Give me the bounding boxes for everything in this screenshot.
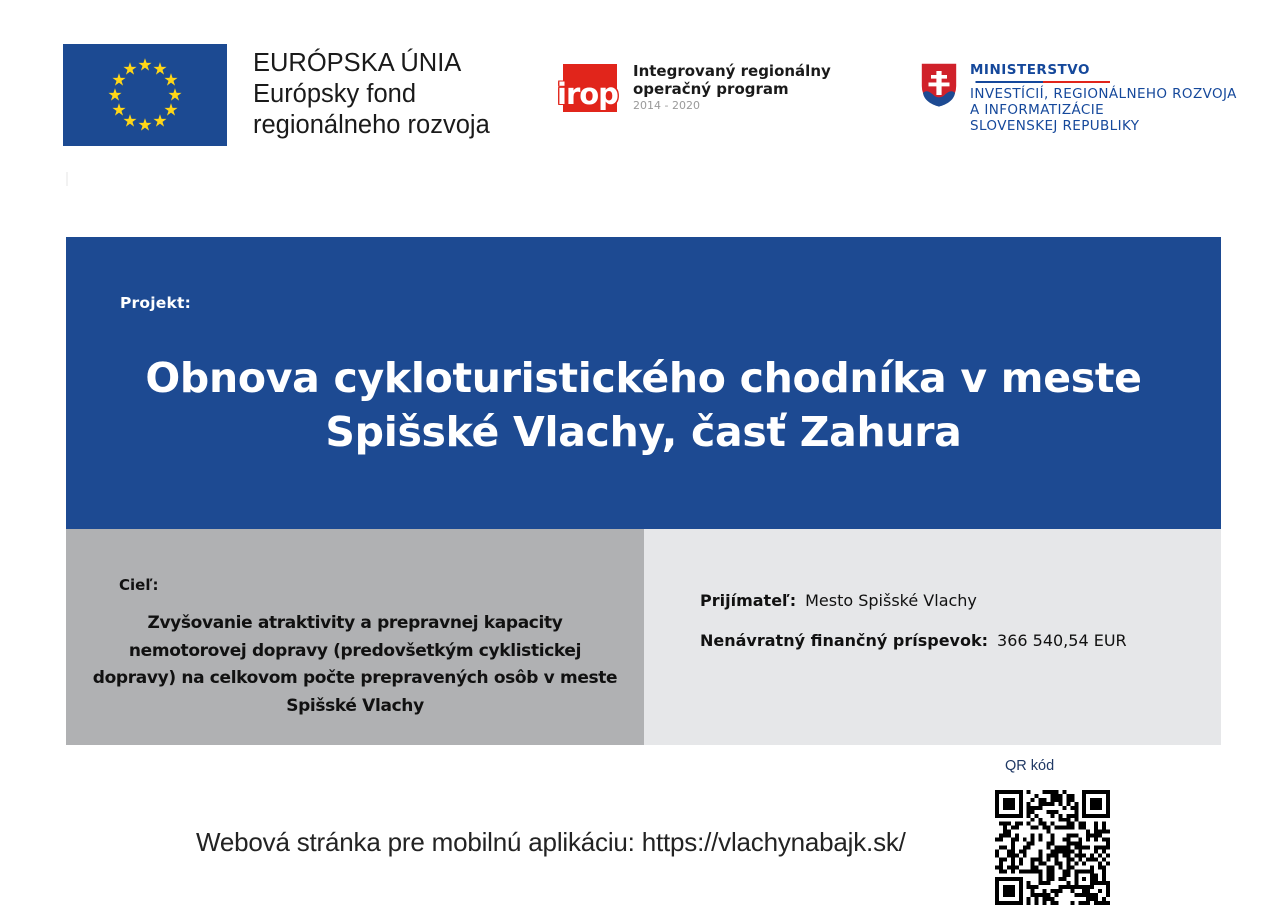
project-label: Projekt: — [120, 294, 191, 312]
ministry-line-3: A INFORMATIZÁCIE — [970, 102, 1237, 118]
page-artifact-mark — [66, 172, 68, 186]
grant-key: Nenávratný finančný príspevok: — [700, 631, 988, 650]
logo-header-bar: ★★★★★★★★★★★★ EURÓPSKA ÚNIA Európsky fond… — [0, 0, 1287, 200]
goal-label: Cieľ: — [119, 576, 159, 594]
grant-value: 366 540,54 EUR — [997, 631, 1127, 650]
website-line: Webová stránka pre mobilnú aplikáciu: ht… — [196, 825, 906, 859]
ministry-divider-rule — [970, 81, 1110, 83]
slovak-coat-of-arms-icon — [920, 62, 958, 108]
irop-wordmark: irop — [557, 80, 625, 109]
recipient-key: Prijímateľ: — [700, 591, 796, 610]
ministry-logo: MINISTERSTVO INVESTÍCIÍ, REGIONÁLNEHO RO… — [920, 62, 1237, 134]
goal-panel: Cieľ: Zvyšovanie atraktivity a prepravne… — [66, 529, 644, 745]
qr-code-image[interactable] — [995, 790, 1110, 905]
ministry-logo-text: MINISTERSTVO INVESTÍCIÍ, REGIONÁLNEHO RO… — [970, 62, 1237, 134]
irop-mark-icon: irop — [559, 62, 621, 114]
eu-logo-text: EURÓPSKA ÚNIA Európsky fond regionálneho… — [253, 44, 490, 141]
eu-text-line-2: Európsky fond — [253, 79, 490, 110]
recipient-value: Mesto Spišské Vlachy — [805, 591, 977, 610]
irop-logo-text: Integrovaný regionálny operačný program … — [633, 62, 831, 113]
eu-text-line-1: EURÓPSKA ÚNIA — [253, 48, 490, 79]
irop-text-line-2: operačný program — [633, 80, 831, 98]
ministry-line-1: MINISTERSTVO — [970, 63, 1237, 78]
irop-text-line-1: Integrovaný regionálny — [633, 62, 831, 80]
eu-text-line-3: regionálneho rozvoja — [253, 110, 490, 141]
project-title: Obnova cykloturistického chodníka v mest… — [118, 351, 1169, 459]
ministry-line-4: SLOVENSKEJ REPUBLIKY — [970, 118, 1237, 134]
eu-flag-icon: ★★★★★★★★★★★★ — [63, 44, 227, 146]
info-row-recipient: Prijímateľ:Mesto Spišské Vlachy — [700, 588, 1127, 614]
european-union-logo: ★★★★★★★★★★★★ EURÓPSKA ÚNIA Európsky fond… — [63, 44, 490, 146]
info-row-grant: Nenávratný finančný príspevok:366 540,54… — [700, 628, 1127, 654]
qr-code-label: QR kód — [1005, 758, 1054, 774]
goal-text: Zvyšovanie atraktivity a prepravnej kapa… — [86, 610, 624, 720]
ministry-line-2: INVESTÍCIÍ, REGIONÁLNEHO ROZVOJA — [970, 86, 1237, 102]
info-rows: Prijímateľ:Mesto Spišské Vlachy Nenávrat… — [700, 588, 1127, 668]
irop-logo: irop Integrovaný regionálny operačný pro… — [559, 62, 831, 114]
irop-period-label: 2014 - 2020 — [633, 99, 831, 113]
info-panel: Prijímateľ:Mesto Spišské Vlachy Nenávrat… — [644, 529, 1221, 745]
project-banner: Projekt: Obnova cykloturistického chodní… — [66, 237, 1221, 529]
